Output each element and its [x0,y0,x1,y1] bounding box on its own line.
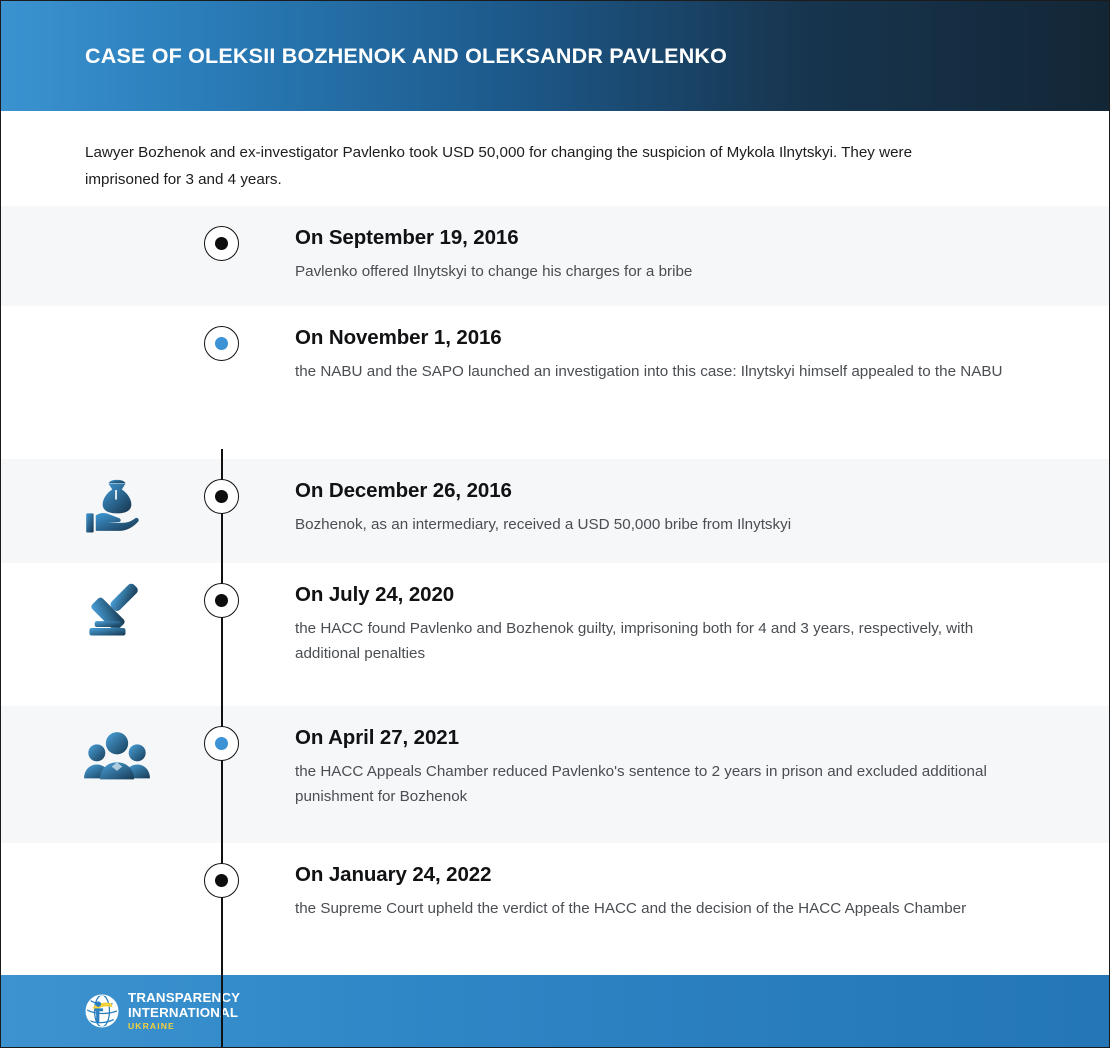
timeline-row: On April 27, 2021the HACC Appeals Chambe… [1,706,1110,843]
money-bag-hand-icon [83,473,151,541]
logo-line-1: TRANSPARENCY [128,991,240,1004]
timeline-marker-dot [215,594,228,607]
timeline-event-date: On January 24, 2022 [295,863,1015,887]
timeline-event-date: On September 19, 2016 [295,226,1015,250]
timeline-event-description: Bozhenok, as an intermediary, received a… [295,512,1015,537]
timeline-row: On September 19, 2016Pavlenko offered Il… [1,206,1110,306]
people-group-icon-wrap [83,722,151,790]
timeline-event-date: On December 26, 2016 [295,479,1015,503]
logo[interactable]: TRANSPARENCY INTERNATIONAL UKRAINE [85,991,240,1030]
intro-section: Lawyer Bozhenok and ex-investigator Pavl… [1,111,1110,206]
logo-line-3: UKRAINE [128,1022,240,1031]
timeline-row: On November 1, 2016the NABU and the SAPO… [1,306,1110,459]
gavel-icon-wrap [83,577,151,645]
logo-wordmark: TRANSPARENCY INTERNATIONAL UKRAINE [128,991,240,1030]
timeline-event-description: the NABU and the SAPO launched an invest… [295,359,1015,384]
intro-text: Lawyer Bozhenok and ex-investigator Pavl… [85,139,985,193]
timeline-row-body: On September 19, 2016Pavlenko offered Il… [295,226,1015,284]
timeline-event-description: the HACC found Pavlenko and Bozhenok gui… [295,616,1015,666]
gavel-icon [83,577,151,645]
timeline-marker[interactable] [204,226,239,261]
timeline: On September 19, 2016Pavlenko offered Il… [1,206,1110,977]
timeline-marker-dot [215,237,228,250]
timeline-row: On December 26, 2016Bozhenok, as an inte… [1,459,1110,563]
timeline-marker[interactable] [204,326,239,361]
infographic-root: CASE OF OLEKSII BOZHENOK AND OLEKSANDR P… [0,0,1110,1048]
money-bag-hand-icon-wrap [83,473,151,541]
timeline-marker[interactable] [204,583,239,618]
timeline-marker-dot [215,337,228,350]
timeline-event-description: the HACC Appeals Chamber reduced Pavlenk… [295,759,1015,809]
header-band: CASE OF OLEKSII BOZHENOK AND OLEKSANDR P… [1,1,1110,111]
page-title: CASE OF OLEKSII BOZHENOK AND OLEKSANDR P… [85,44,727,69]
timeline-row-body: On April 27, 2021the HACC Appeals Chambe… [295,726,1015,809]
timeline-marker[interactable] [204,479,239,514]
logo-line-2: INTERNATIONAL [128,1006,240,1019]
transparency-international-globe-icon [85,994,119,1028]
timeline-row-body: On January 24, 2022the Supreme Court uph… [295,863,1015,921]
people-group-icon [83,722,151,790]
timeline-marker[interactable] [204,863,239,898]
timeline-row-body: On July 24, 2020the HACC found Pavlenko … [295,583,1015,666]
timeline-event-date: On April 27, 2021 [295,726,1015,750]
timeline-marker-dot [215,874,228,887]
timeline-row: On July 24, 2020the HACC found Pavlenko … [1,563,1110,706]
timeline-event-description: the Supreme Court upheld the verdict of … [295,896,1015,921]
footer-band: TRANSPARENCY INTERNATIONAL UKRAINE [1,975,1110,1047]
timeline-row-body: On November 1, 2016the NABU and the SAPO… [295,326,1015,384]
timeline-event-description: Pavlenko offered Ilnytskyi to change his… [295,259,1015,284]
timeline-event-date: On July 24, 2020 [295,583,1015,607]
timeline-row: On January 24, 2022the Supreme Court uph… [1,843,1110,977]
timeline-marker-dot [215,490,228,503]
timeline-marker-dot [215,737,228,750]
timeline-event-date: On November 1, 2016 [295,326,1015,350]
timeline-marker[interactable] [204,726,239,761]
timeline-row-body: On December 26, 2016Bozhenok, as an inte… [295,479,1015,537]
